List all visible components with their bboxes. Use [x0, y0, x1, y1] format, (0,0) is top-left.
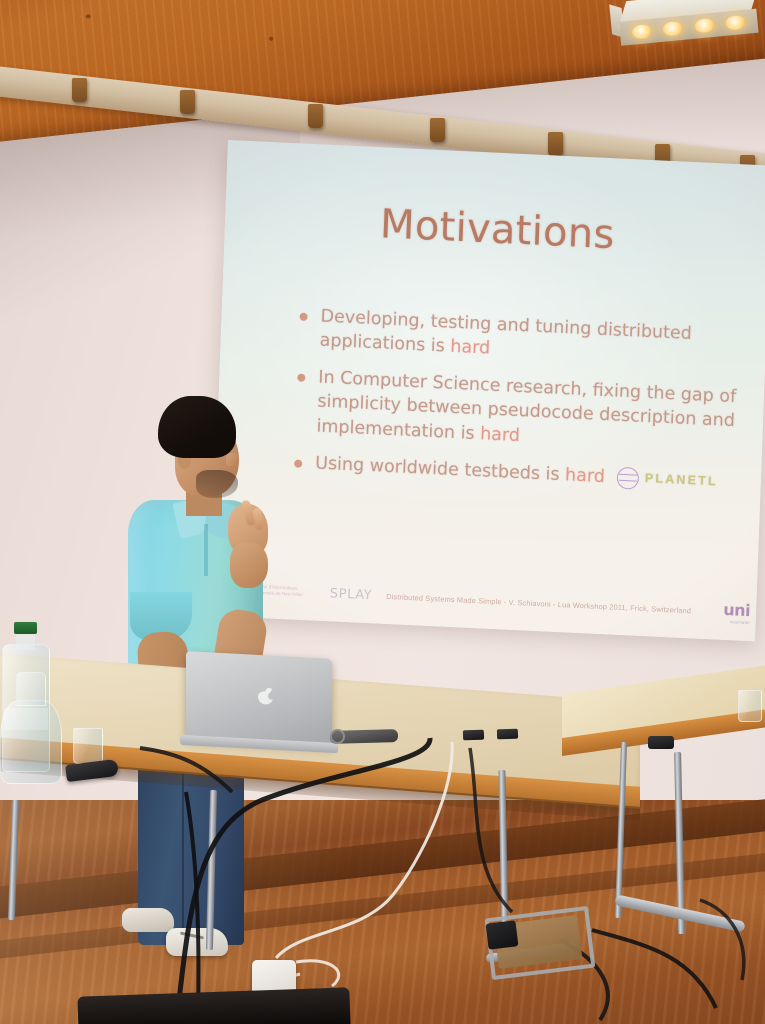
presenter-hand	[230, 542, 268, 588]
usb-stick[interactable]	[463, 730, 484, 741]
carafe-body	[0, 700, 62, 784]
projection-screen: Motivations Developing, testing and tuni…	[211, 140, 765, 641]
drinking-glass[interactable]	[738, 690, 762, 722]
key-ring-icon	[330, 729, 345, 744]
table-clamp	[648, 736, 674, 749]
glass-carafe[interactable]	[0, 672, 62, 784]
light-bulb	[662, 21, 683, 37]
apple-notch	[268, 692, 274, 699]
presenter-beard	[196, 470, 238, 498]
light-bulb	[631, 24, 652, 40]
shirt-placket	[204, 524, 208, 576]
presenter-shoe	[122, 908, 174, 932]
ceiling-peg	[180, 90, 195, 114]
laptop-lid	[186, 651, 332, 747]
light-bulb	[694, 18, 715, 34]
presenter-nose	[226, 453, 239, 466]
ceiling-peg	[72, 78, 87, 102]
laptop[interactable]	[180, 655, 332, 753]
ceiling-peg	[548, 132, 563, 156]
screen-vignette	[211, 140, 765, 641]
projected-slide: Motivations Developing, testing and tuni…	[211, 140, 765, 641]
presenter-hair	[158, 396, 236, 458]
ceiling-peg	[308, 104, 323, 128]
ceiling-peg	[430, 118, 445, 142]
side-table	[562, 694, 765, 814]
usb-stick[interactable]	[497, 729, 518, 740]
carafe-neck	[16, 672, 46, 706]
light-bulb	[725, 15, 746, 31]
drinking-glass[interactable]	[73, 728, 103, 764]
presenter-shoe	[166, 928, 228, 956]
power-brick	[486, 920, 519, 949]
photo-scene: Motivations Developing, testing and tuni…	[0, 0, 765, 1024]
apple-logo-icon	[258, 687, 273, 705]
bottle-cap[interactable]	[14, 622, 37, 634]
